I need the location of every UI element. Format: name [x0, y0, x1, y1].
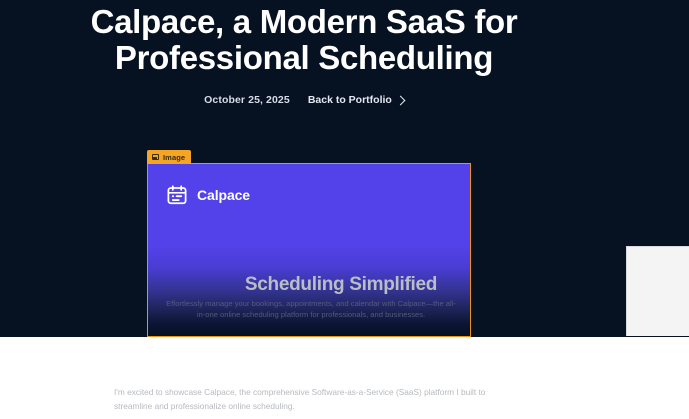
chevron-right-icon [395, 95, 405, 105]
article-paragraph: I'm excited to showcase Calpace, the com… [114, 386, 514, 413]
back-to-portfolio-label: Back to Portfolio [308, 94, 392, 106]
image-icon [152, 154, 159, 160]
page-root: Calpace, a Modern SaaS for Professional … [0, 0, 689, 419]
brand-lockup: Calpace [166, 184, 250, 206]
image-badge: Image [147, 150, 191, 164]
image-card[interactable]: Calpace Scheduling Simplified Effortless… [147, 163, 471, 337]
image-card-wrapper[interactable]: Calpace Scheduling Simplified Effortless… [147, 163, 471, 337]
brand-name: Calpace [197, 187, 250, 203]
card-subtext: Effortlessly manage your bookings, appoi… [162, 298, 460, 320]
article-meta: October 25, 2025 Back to Portfolio [0, 94, 608, 106]
card-headline: Scheduling Simplified [148, 274, 466, 296]
back-to-portfolio-link[interactable]: Back to Portfolio [308, 94, 404, 106]
page-title: Calpace, a Modern SaaS for Professional … [0, 4, 608, 76]
side-panel [626, 246, 689, 336]
hero-section: Calpace, a Modern SaaS for Professional … [0, 0, 689, 337]
image-badge-label: Image [163, 153, 185, 162]
calendar-icon [166, 184, 188, 206]
publish-date: October 25, 2025 [204, 94, 290, 106]
